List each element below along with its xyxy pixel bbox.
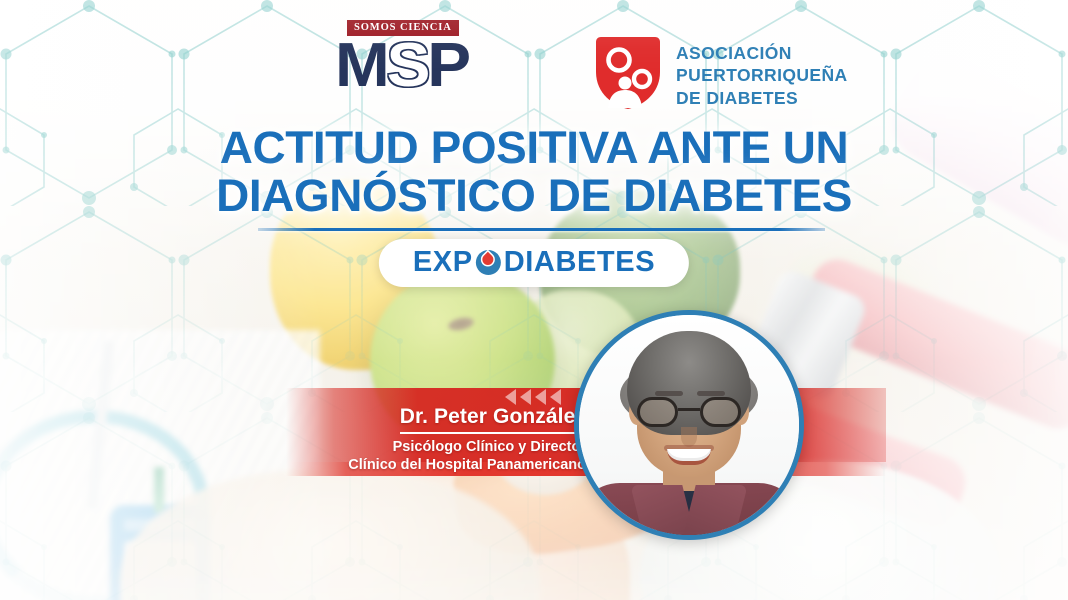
expo-text-before: EXP [413, 248, 473, 277]
portrait-nose [681, 427, 697, 447]
portrait-eyebrow-left [655, 391, 683, 396]
title-line-2: DIAGNÓSTICO DE DIABETES [0, 172, 1068, 220]
eyeglasses-icon [637, 397, 741, 427]
poster-canvas: SOMOS CIENCIA MSP ASOCIACIÓN PUERTORRIQU… [0, 0, 1068, 600]
apd-logo[interactable]: ASOCIACIÓN PUERTORRIQUEÑA DE DIABETES [592, 36, 862, 114]
speaker-role-line-1: Psicólogo Clínico y Director [300, 438, 586, 456]
apd-name-block: ASOCIACIÓN PUERTORRIQUEÑA DE DIABETES [676, 42, 848, 109]
portrait-glasses-bridge [678, 408, 700, 411]
chevron-left-icon [550, 389, 561, 405]
expo-badge-text: EXP DIABETES [413, 248, 655, 277]
speaker-role-line-2: Clínico del Hospital Panamericano [300, 456, 586, 474]
msp-letter-s: S [387, 31, 428, 100]
chevron-left-icon [505, 389, 516, 405]
chevron-left-icon [520, 389, 531, 405]
speaker-name: Dr. Peter González [400, 404, 586, 434]
portrait-eyebrow-right [697, 391, 725, 396]
msp-wordmark: MSP [335, 35, 468, 97]
apd-line-2: PUERTORRIQUEÑA [676, 64, 848, 86]
poster-title: ACTITUD POSITIVA ANTE UN DIAGNÓSTICO DE … [0, 124, 1068, 219]
apd-line-3: DE DIABETES [676, 87, 848, 109]
blood-drop-icon [476, 250, 501, 275]
expo-text-after: DIABETES [504, 248, 655, 277]
msp-letter-m: M [335, 31, 387, 100]
arrow-decoration-group [505, 389, 561, 405]
portrait-lens-right [700, 397, 741, 427]
speaker-portrait [574, 310, 804, 540]
diabetes-drop-people-shield-icon [592, 36, 664, 110]
title-underline-rule [258, 228, 825, 231]
speaker-info: Dr. Peter González Psicólogo Clínico y D… [300, 404, 586, 475]
chevron-left-icon [535, 389, 546, 405]
portrait-lens-left [637, 397, 678, 427]
logo-row: SOMOS CIENCIA MSP ASOCIACIÓN PUERTORRIQU… [0, 14, 1068, 106]
msp-logo[interactable]: SOMOS CIENCIA MSP [335, 20, 510, 100]
expo-diabetes-badge[interactable]: EXP DIABETES [379, 239, 689, 287]
title-line-1: ACTITUD POSITIVA ANTE UN [0, 124, 1068, 172]
msp-letter-p: P [427, 31, 468, 100]
apd-line-1: ASOCIACIÓN [676, 42, 848, 64]
